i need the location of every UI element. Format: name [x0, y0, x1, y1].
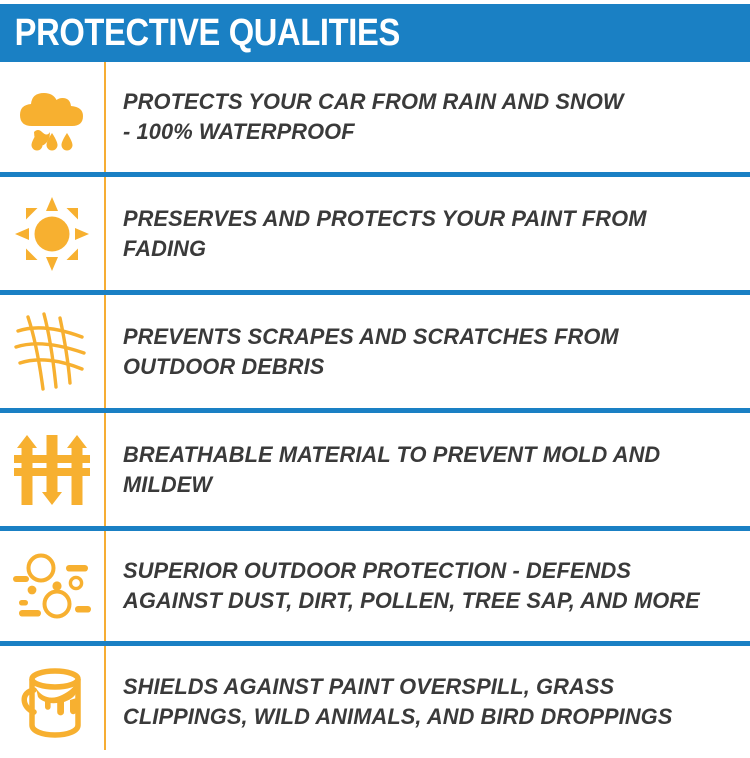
feature-text: SHIELDS AGAINST PAINT OVERSPILL, GRASS C… — [123, 672, 720, 732]
feature-text: PREVENTS SCRAPES AND SCRATCHES FROM OUTD… — [123, 322, 720, 382]
icon-cell — [0, 195, 104, 273]
page-title: PROTECTIVE QUALITIES — [0, 14, 400, 52]
feature-list: PROTECTS YOUR CAR FROM RAIN AND SNOW - 1… — [0, 62, 750, 758]
feature-row: BREATHABLE MATERIAL TO PREVENT MOLD AND … — [0, 413, 750, 526]
feature-row: PROTECTS YOUR CAR FROM RAIN AND SNOW - 1… — [0, 62, 750, 172]
icon-cell — [0, 431, 104, 509]
icon-cell — [0, 662, 104, 742]
text-cell: PREVENTS SCRAPES AND SCRATCHES FROM OUTD… — [104, 322, 750, 382]
text-cell: BREATHABLE MATERIAL TO PREVENT MOLD AND … — [104, 440, 750, 500]
feature-text: PRESERVES AND PROTECTS YOUR PAINT FROM F… — [123, 204, 720, 264]
feature-text: PROTECTS YOUR CAR FROM RAIN AND SNOW - 1… — [123, 87, 720, 147]
icon-cell — [0, 548, 104, 624]
dust-particles-icon — [10, 548, 94, 624]
feature-text: BREATHABLE MATERIAL TO PREVENT MOLD AND … — [123, 440, 720, 500]
feature-text: SUPERIOR OUTDOOR PROTECTION - DEFENDS AG… — [123, 556, 720, 616]
feature-row: SUPERIOR OUTDOOR PROTECTION - DEFENDS AG… — [0, 531, 750, 641]
text-cell: PROTECTS YOUR CAR FROM RAIN AND SNOW - 1… — [104, 87, 750, 147]
rain-cloud-icon — [15, 80, 89, 154]
paint-can-icon — [12, 662, 92, 742]
icon-cell — [0, 311, 104, 393]
sun-icon — [13, 195, 91, 273]
icon-cell — [0, 80, 104, 154]
text-cell: PRESERVES AND PROTECTS YOUR PAINT FROM F… — [104, 204, 750, 264]
protective-qualities-infographic: PROTECTIVE QUALITIES PROTECTS YOUR CAR F… — [0, 0, 750, 750]
text-cell: SUPERIOR OUTDOOR PROTECTION - DEFENDS AG… — [104, 556, 750, 616]
header-banner: PROTECTIVE QUALITIES — [0, 4, 750, 62]
breathable-airflow-arrows-icon — [14, 431, 90, 509]
mesh-net-icon — [12, 311, 92, 393]
text-cell: SHIELDS AGAINST PAINT OVERSPILL, GRASS C… — [104, 672, 750, 732]
feature-row: PRESERVES AND PROTECTS YOUR PAINT FROM F… — [0, 177, 750, 290]
feature-row: SHIELDS AGAINST PAINT OVERSPILL, GRASS C… — [0, 646, 750, 758]
feature-row: PREVENTS SCRAPES AND SCRATCHES FROM OUTD… — [0, 295, 750, 408]
